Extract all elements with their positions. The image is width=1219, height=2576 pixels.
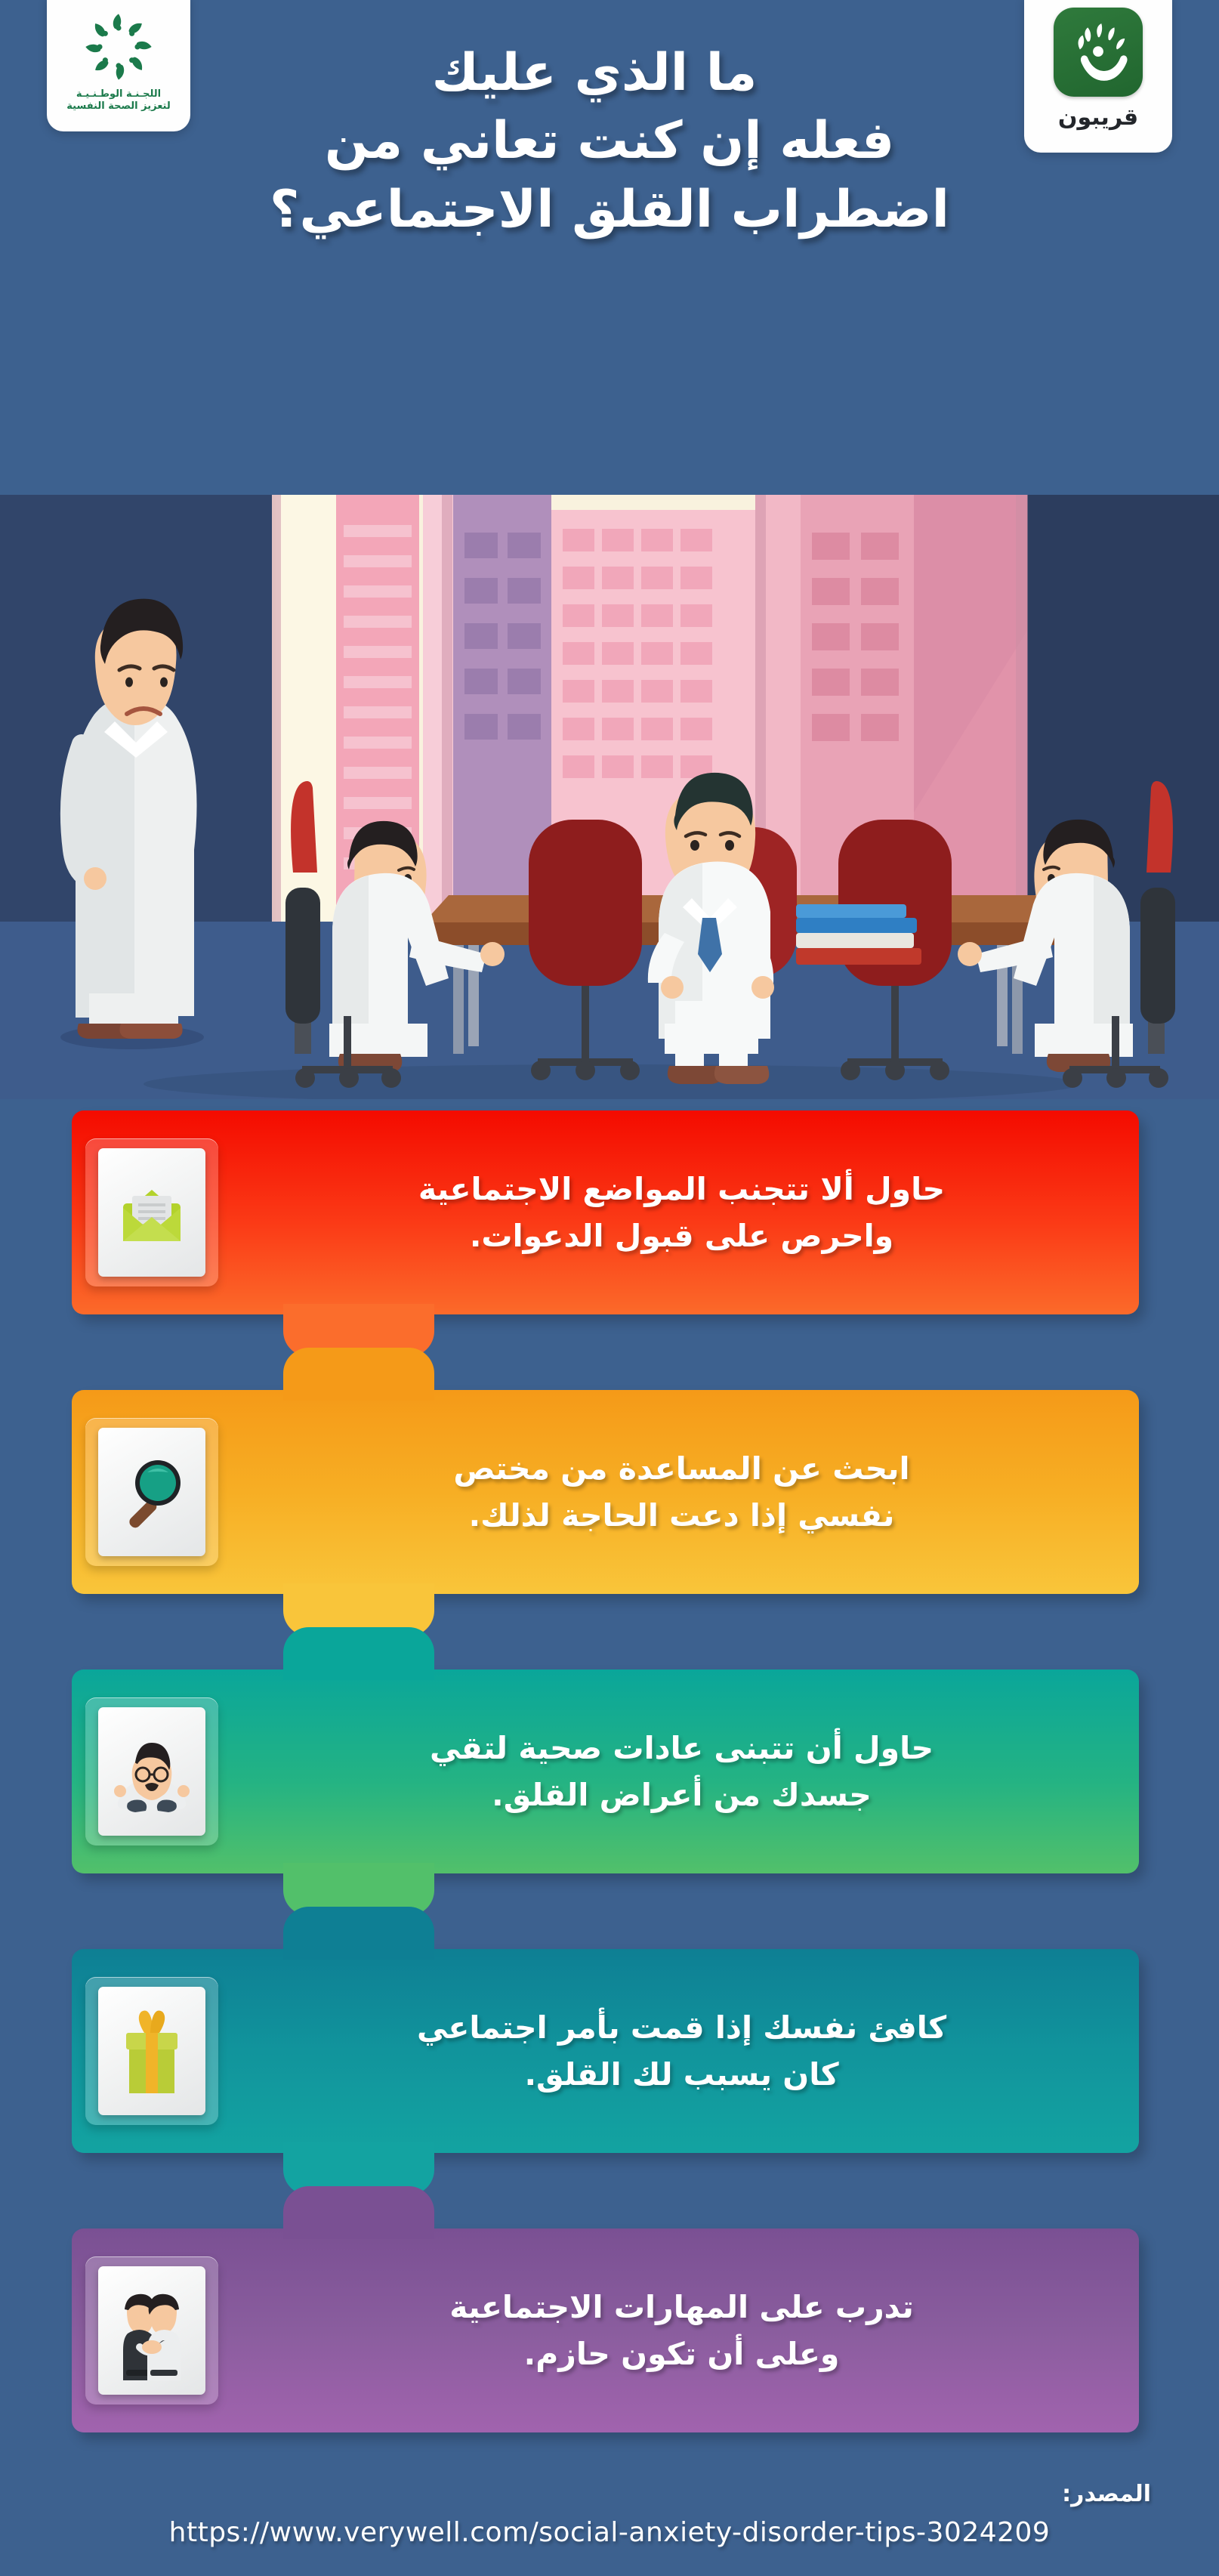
tip-line-3a: حاول أن تتبنى عادات صحية لتقي [430,1730,934,1766]
book-stack [796,904,921,965]
connector-tab-up-5 [283,2186,434,2239]
source-label: المصدر: [1062,2481,1151,2507]
tip-text-3: حاول أن تتبنى عادات صحية لتقي جسدك من أع… [244,1725,1139,1819]
tip-line-5a: تدرب على المهارات الاجتماعية [449,2289,914,2325]
tip-text-2: ابحث عن المساعدة من مختص نفسي إذا دعت ال… [244,1445,1139,1540]
infographic-page: اللجـنـة الوطـنـيـة لتعزيز الصحة النفسية [0,0,1219,2576]
tip-icon-frame-5 [85,2256,218,2405]
tip-line-2a: ابحث عن المساعدة من مختص [453,1450,909,1487]
meeting-room-scene [0,495,1219,1099]
tip-card-5[interactable]: تدرب على المهارات الاجتماعية وعلى أن تكو… [72,2229,1139,2432]
connector-tab-up-3 [283,1627,434,1680]
tip-line-5b: وعلى أن تكون حازم. [524,2336,840,2372]
tip-card-1[interactable]: حاول ألا تتجنب المواضع الاجتماعية واحرص … [72,1110,1139,1314]
tips-list: حاول ألا تتجنب المواضع الاجتماعية واحرص … [0,1110,1219,2470]
tip-line-1a: حاول ألا تتجنب المواضع الاجتماعية [418,1171,945,1207]
tip-text-4: كافئ نفسك إذا قمت بأمر اجتماعي كان يسبب … [244,2004,1139,2099]
tip-text-5: تدرب على المهارات الاجتماعية وعلى أن تكو… [244,2284,1139,2378]
header: اللجـنـة الوطـنـيـة لتعزيز الصحة النفسية [0,0,1219,499]
tip-icon-frame-2 [85,1418,218,1566]
gift-icon [110,2003,194,2099]
meditation-icon [105,1722,199,1821]
tip-icon-frame-1 [85,1138,218,1286]
tip-text-1: حاول ألا تتجنب المواضع الاجتماعية واحرص … [244,1166,1139,1260]
hero-illustration [0,495,1219,1099]
connector-tab-up-2 [283,1348,434,1401]
title-line-2: فعله إن كنت تعاني من [91,107,1128,175]
tip-icon-frame-3 [85,1697,218,1846]
tip-card-4[interactable]: كافئ نفسك إذا قمت بأمر اجتماعي كان يسبب … [72,1949,1139,2153]
tip-line-2b: نفسي إذا دعت الحاجة لذلك. [469,1497,895,1534]
tip-line-4b: كان يسبب لك القلق. [524,2056,838,2093]
tip-card-3[interactable]: حاول أن تتبنى عادات صحية لتقي جسدك من أع… [72,1669,1139,1873]
tip-line-1b: واحرص على قبول الدعوات. [470,1218,893,1254]
tip-icon-frame-4 [85,1977,218,2125]
magnifier-icon [110,1450,194,1534]
source-url[interactable]: https://www.verywell.com/social-anxiety-… [0,2517,1219,2548]
footer: المصدر: https://www.verywell.com/social-… [0,2470,1219,2576]
tip-card-2[interactable]: ابحث عن المساعدة من مختص نفسي إذا دعت ال… [72,1390,1139,1594]
connector-tab-up-4 [283,1907,434,1960]
title-line-1: ما الذي عليك [91,39,1128,107]
tip-line-4a: كافئ نفسك إذا قمت بأمر اجتماعي [417,2009,946,2046]
tip-line-3b: جسدك من أعراض القلق. [492,1777,872,1813]
page-title: ما الذي عليك فعله إن كنت تعاني من اضطراب… [91,39,1128,244]
envelope-icon [110,1170,194,1255]
handshake-icon [105,2281,199,2380]
title-line-3: اضطراب القلق الاجتماعي؟ [91,176,1128,244]
